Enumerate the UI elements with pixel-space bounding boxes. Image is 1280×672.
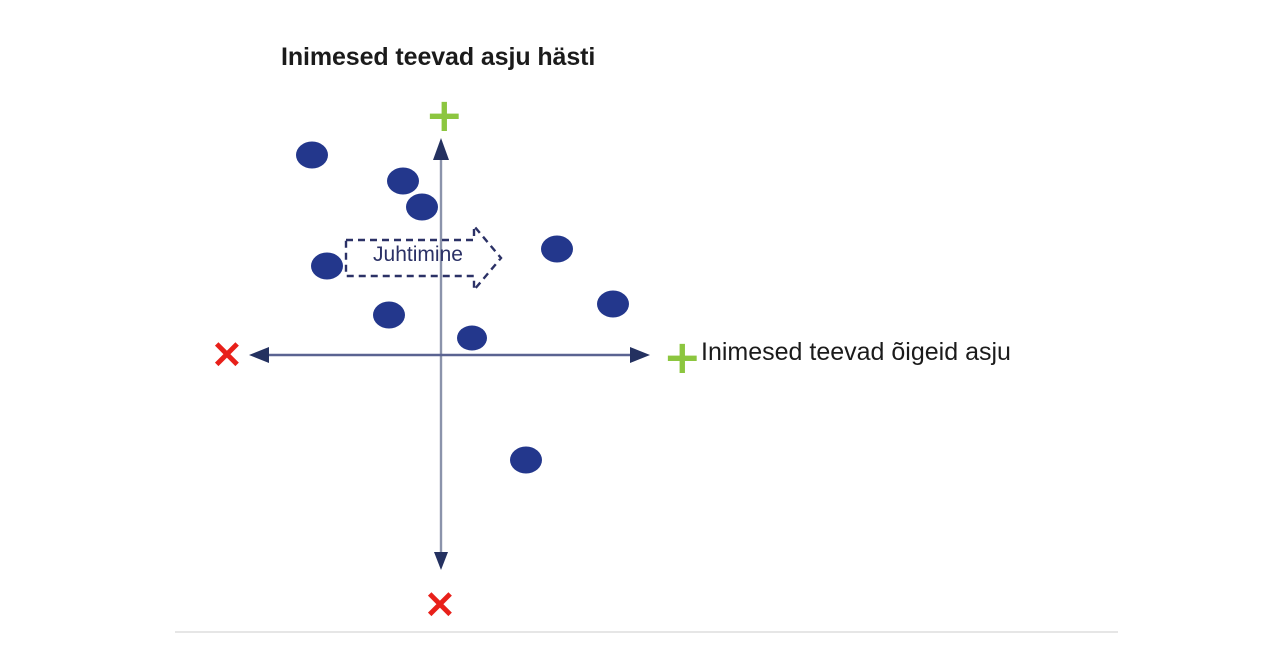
data-point (510, 447, 542, 474)
y-axis-arrowhead-down (434, 552, 448, 570)
data-point (406, 194, 438, 221)
data-point (457, 326, 487, 351)
data-point (387, 168, 419, 195)
scatter-plot-svg (0, 0, 1280, 672)
x-axis-arrowhead-right (630, 347, 650, 363)
plus-icon-top: + (425, 92, 464, 138)
data-points (296, 142, 629, 474)
data-point (296, 142, 328, 169)
cross-icon-bottom: ✕ (424, 587, 456, 625)
data-point (373, 302, 405, 329)
data-point (541, 236, 573, 263)
page-title: Inimesed teevad asju hästi (281, 43, 595, 72)
data-point (311, 253, 343, 280)
x-axis-arrowhead-left (249, 347, 269, 363)
x-axis (249, 347, 650, 363)
data-point (597, 291, 629, 318)
plus-icon-right: + (663, 334, 702, 380)
diagram-canvas: Inimesed teevad asju hästi Juhtimine + +… (0, 0, 1280, 672)
cross-icon-left: ✕ (211, 337, 243, 375)
x-axis-label: Inimesed teevad õigeid asju (701, 338, 1011, 367)
juhtimine-arrow-shape[interactable] (346, 226, 501, 290)
